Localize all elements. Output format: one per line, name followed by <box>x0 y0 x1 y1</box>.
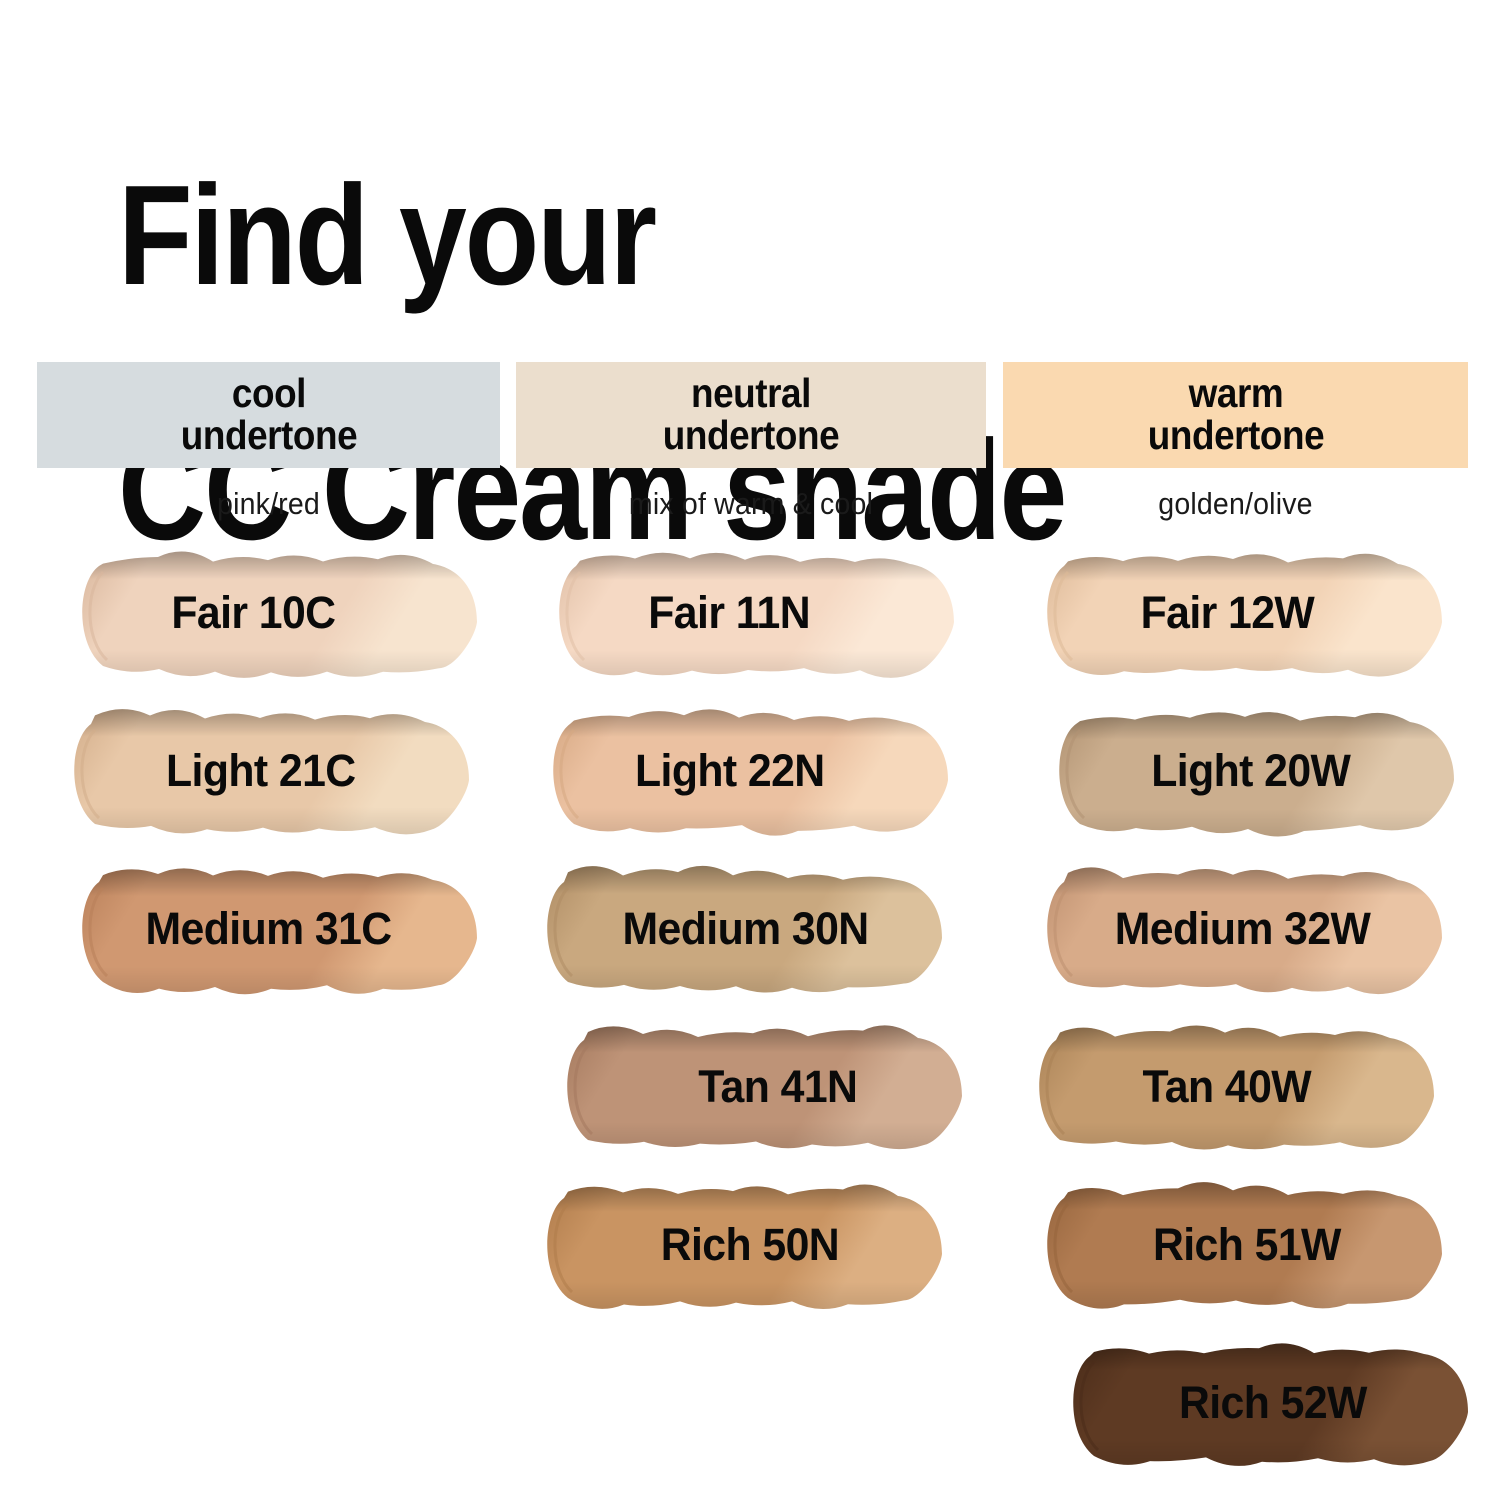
swatch-color-blob <box>51 696 481 846</box>
shade-swatch[interactable]: Light 20W <box>1036 696 1466 846</box>
swatch-color-blob <box>530 696 960 846</box>
swatch-stack-cool: Fair 10C Light 21C <box>37 538 537 1498</box>
swatch-color-blob <box>524 854 954 1004</box>
undertone-subtitle-neutral: mix of warm & cool <box>535 486 967 522</box>
swatch-color-blob <box>59 538 489 688</box>
shade-swatch[interactable]: Fair 12W <box>1024 538 1454 688</box>
undertone-subtitle-warm: golden/olive <box>1022 486 1450 522</box>
undertone-column-cool: cool undertonepink/red Fair 10C <box>0 362 500 1492</box>
swatch-color-blob <box>1024 1170 1454 1320</box>
shade-swatch[interactable]: Rich 51W <box>1024 1170 1454 1320</box>
shade-swatch[interactable]: Medium 31C <box>59 854 489 1004</box>
shade-swatch[interactable]: Medium 30N <box>524 854 954 1004</box>
undertone-column-neutral: neutral undertonemix of warm & cool Fair… <box>500 362 1000 1492</box>
swatch-stack-neutral: Fair 11N Light 22N <box>516 538 1016 1498</box>
shade-finder-page: Find your CC Cream shade cool undertonep… <box>0 0 1500 1500</box>
shade-swatch[interactable]: Medium 32W <box>1024 854 1454 1004</box>
shade-swatch[interactable]: Light 22N <box>530 696 960 846</box>
shade-swatch[interactable]: Tan 41N <box>544 1012 974 1162</box>
undertone-header-band-cool: cool undertone <box>37 362 500 468</box>
shade-swatch[interactable]: Rich 50N <box>524 1170 954 1320</box>
swatch-color-blob <box>1050 1328 1480 1478</box>
shade-swatch[interactable]: Fair 11N <box>536 538 966 688</box>
shade-swatch[interactable]: Fair 10C <box>59 538 489 688</box>
swatch-color-blob <box>524 1170 954 1320</box>
swatch-color-blob <box>544 1012 974 1162</box>
swatch-color-blob <box>1016 1012 1446 1162</box>
swatch-color-blob <box>59 854 489 1004</box>
undertone-header-label-cool: cool undertone <box>180 373 356 457</box>
undertone-header-label-warm: warm undertone <box>1147 373 1323 457</box>
swatch-color-blob <box>536 538 966 688</box>
undertone-header-band-warm: warm undertone <box>1003 362 1468 468</box>
shade-swatch[interactable]: Tan 40W <box>1016 1012 1446 1162</box>
page-title-line-1: Find your <box>118 172 1236 300</box>
shade-swatch[interactable]: Light 21C <box>51 696 481 846</box>
undertone-header-label-neutral: neutral undertone <box>663 373 839 457</box>
swatch-color-blob <box>1036 696 1466 846</box>
swatch-color-blob <box>1024 538 1454 688</box>
shade-swatch[interactable]: Rich 52W <box>1050 1328 1480 1478</box>
undertone-subtitle-cool: pink/red <box>56 486 482 522</box>
undertone-header-band-neutral: neutral undertone <box>516 362 986 468</box>
swatch-stack-warm: Fair 12W Light 20W <box>1000 538 1500 1498</box>
undertone-columns: cool undertonepink/red Fair 10C <box>0 362 1500 1492</box>
swatch-color-blob <box>1024 854 1454 1004</box>
undertone-column-warm: warm undertonegolden/olive Fair 12W <box>1000 362 1500 1492</box>
